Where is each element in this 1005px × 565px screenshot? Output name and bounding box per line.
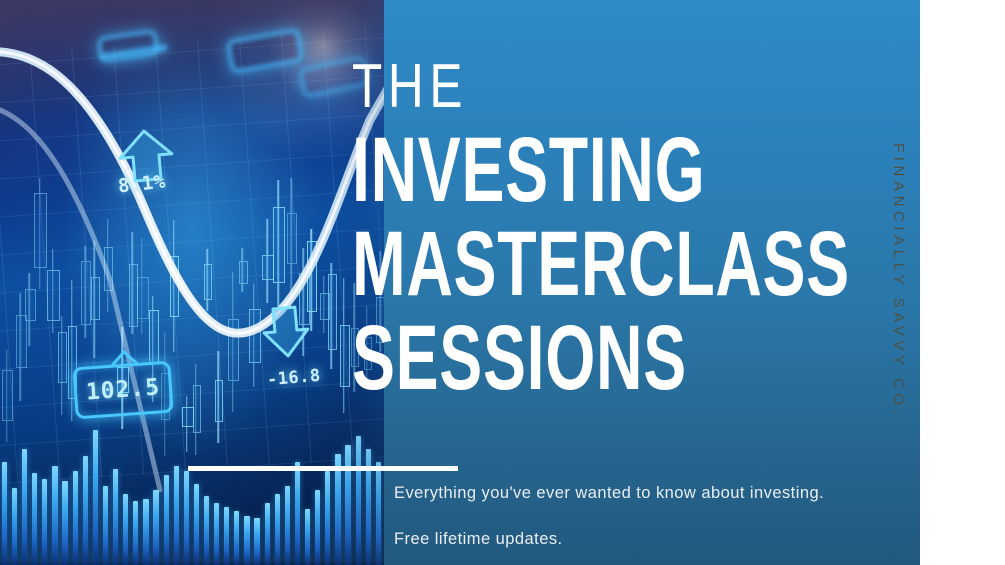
chart-bar bbox=[2, 462, 7, 565]
chart-bar bbox=[224, 507, 229, 565]
chart-bar bbox=[133, 501, 138, 565]
chart-bar bbox=[164, 475, 169, 565]
chart-bar bbox=[113, 469, 118, 565]
chart-bar bbox=[83, 456, 88, 565]
chart-bar bbox=[204, 496, 209, 565]
title-line-3: SESSIONS bbox=[352, 313, 744, 403]
chart-bar bbox=[275, 494, 280, 565]
chart-bar bbox=[12, 488, 17, 565]
divider-rule bbox=[188, 466, 458, 471]
chart-bar bbox=[254, 518, 259, 565]
chart-bar bbox=[32, 473, 37, 565]
chart-bar bbox=[153, 490, 158, 565]
chart-bar bbox=[305, 509, 310, 565]
chart-bar bbox=[62, 481, 67, 565]
chart-bar bbox=[214, 503, 219, 565]
brand-vertical-text: FINANCIALLY SAVVY CO. bbox=[890, 143, 907, 423]
financial-photo-collage: 8.1% -16.8 102.5 bbox=[0, 0, 384, 565]
arrow-down-icon bbox=[259, 303, 314, 361]
chart-bar bbox=[143, 499, 148, 565]
chart-bar bbox=[194, 484, 199, 565]
chart-bar bbox=[22, 449, 27, 565]
price-badge: 102.5 bbox=[72, 361, 173, 420]
chart-bar bbox=[315, 490, 320, 565]
chart-bar bbox=[103, 486, 108, 565]
chart-bar bbox=[42, 479, 47, 565]
title-block: THE INVESTING MASTERCLASS SESSIONS bbox=[352, 58, 912, 404]
title-pre: THE bbox=[352, 58, 800, 115]
subtitle-line-1: Everything you've ever wanted to know ab… bbox=[394, 484, 914, 503]
title-line-2: MASTERCLASS bbox=[352, 219, 744, 309]
poster-canvas: 8.1% -16.8 102.5 THE INVESTING MASTERCLA… bbox=[0, 0, 1005, 565]
chart-bar bbox=[295, 462, 300, 565]
chart-bar bbox=[265, 503, 270, 565]
chart-bar bbox=[93, 430, 98, 565]
chart-bar bbox=[52, 466, 57, 565]
chart-bar bbox=[234, 511, 239, 565]
chart-bar bbox=[184, 471, 189, 565]
chart-bar bbox=[174, 466, 179, 565]
chart-bar bbox=[244, 516, 249, 565]
chart-bar bbox=[73, 471, 78, 565]
subtitle-line-2: Free lifetime updates. bbox=[394, 530, 914, 549]
title-line-1: INVESTING bbox=[352, 125, 744, 215]
bottom-bar-chart bbox=[0, 415, 384, 565]
chart-bar bbox=[123, 494, 128, 565]
chart-bar bbox=[285, 486, 290, 565]
